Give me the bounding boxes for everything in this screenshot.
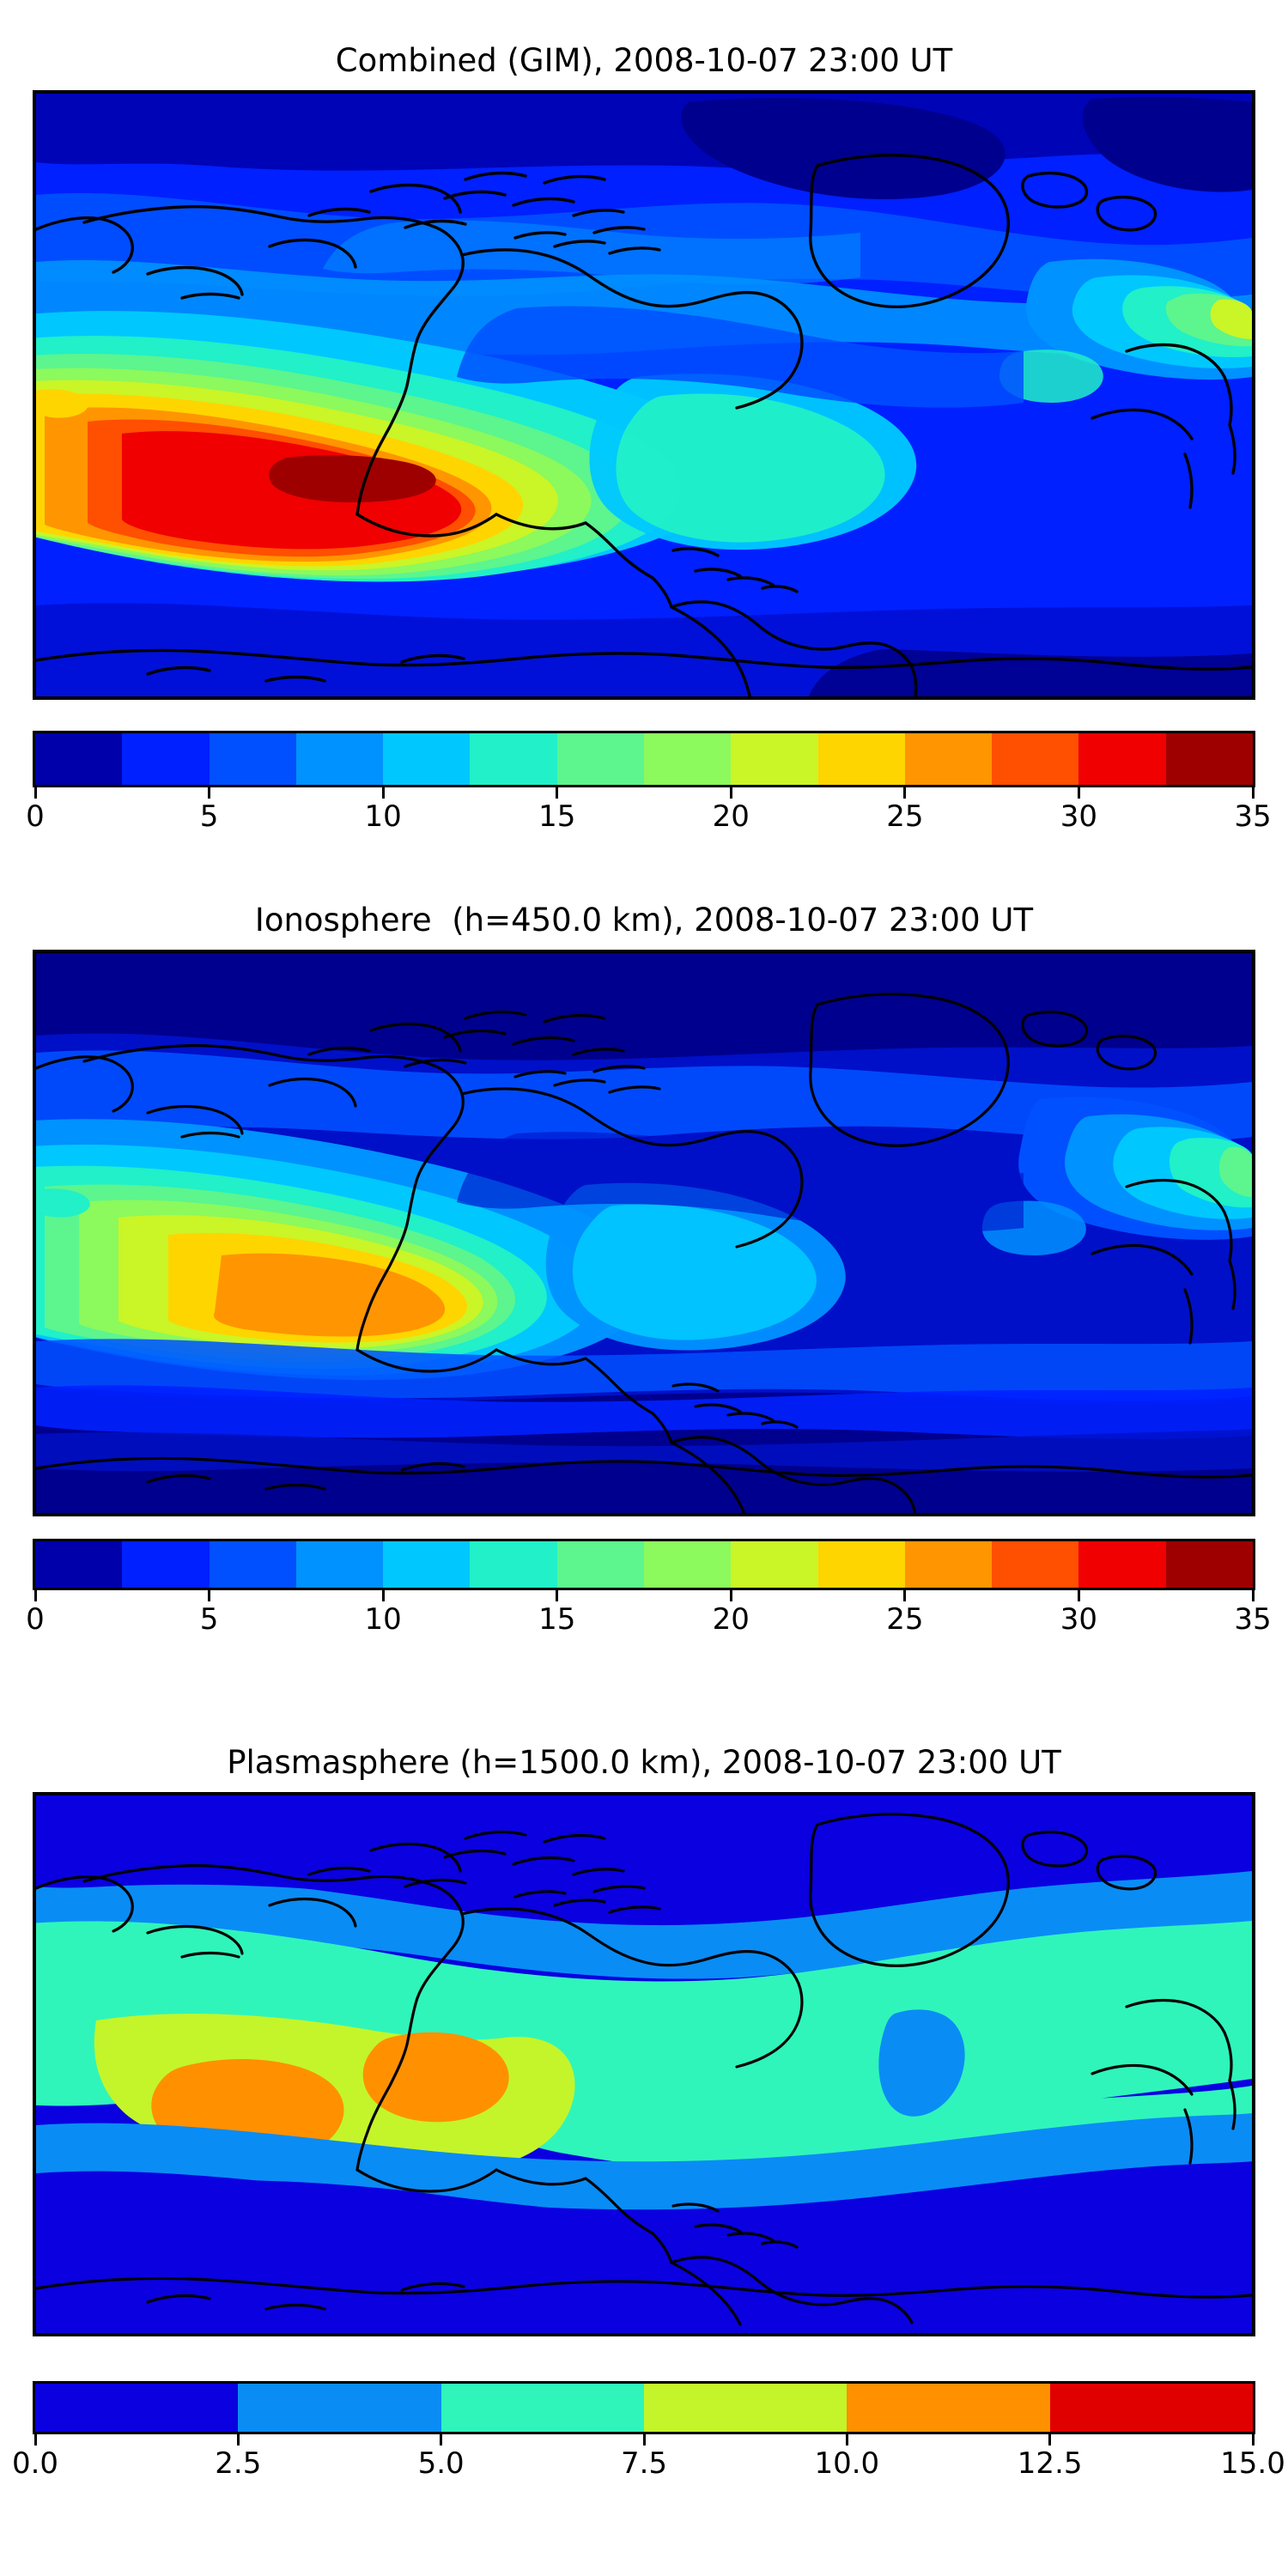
colorbar-tick xyxy=(556,787,558,799)
colorbar-axis-ionosphere: 05101520253035 xyxy=(33,1590,1255,1638)
colorbar-tick-label: 20 xyxy=(713,1602,750,1637)
colorbar-segment xyxy=(818,1541,905,1588)
colorbar-segment xyxy=(35,1541,122,1588)
colorbar-tick xyxy=(1048,2434,1051,2445)
colorbar-tick xyxy=(730,1590,732,1601)
map-canvas-plasmasphere xyxy=(36,1795,1252,2333)
colorbar-segment xyxy=(731,1541,817,1588)
colorbar-tick-label: 0 xyxy=(26,1602,45,1637)
panel-plasmasphere: Plasmasphere (h=1500.0 km), 2008-10-07 2… xyxy=(0,1747,1288,2434)
colorbar-tick-label: 35 xyxy=(1234,1602,1271,1637)
panel-title-combined-gim: Combined (GIM), 2008-10-07 23:00 UT xyxy=(0,45,1288,76)
colorbar-tick xyxy=(730,787,732,799)
colorbar-axis-plasmasphere: 0.02.55.07.510.012.515.0 xyxy=(33,2434,1255,2484)
colorbar-bands-plasmasphere xyxy=(33,2381,1255,2434)
colorbar-bands-ionosphere xyxy=(33,1539,1255,1590)
colorbar-segment xyxy=(35,733,122,785)
map-combined-gim xyxy=(33,90,1255,700)
colorbar-segment xyxy=(210,1541,296,1588)
colorbar-segment xyxy=(557,733,644,785)
colorbar-segment xyxy=(644,733,731,785)
colorbar-tick-label: 7.5 xyxy=(621,2446,667,2481)
colorbar-segment xyxy=(731,733,817,785)
colorbar-segment xyxy=(557,1541,644,1588)
colorbar-tick-label: 0.0 xyxy=(12,2446,58,2481)
colorbar-tick xyxy=(1252,1590,1255,1601)
map-ionosphere xyxy=(33,950,1255,1516)
colorbar-segment xyxy=(441,2384,644,2432)
colorbar-tick-label: 15 xyxy=(538,1602,575,1637)
colorbar-segment xyxy=(122,733,209,785)
colorbar-tick-label: 10.0 xyxy=(814,2446,879,2481)
colorbar-tick xyxy=(903,787,906,799)
map-plasmasphere xyxy=(33,1792,1255,2336)
colorbar-tick xyxy=(1078,787,1080,799)
panel-title-plasmasphere: Plasmasphere (h=1500.0 km), 2008-10-07 2… xyxy=(0,1747,1288,1778)
colorbar-plasmasphere: 0.02.55.07.510.012.515.0 xyxy=(33,2381,1255,2434)
colorbar-tick-label: 15.0 xyxy=(1220,2446,1285,2481)
colorbar-segment xyxy=(122,1541,209,1588)
panel-ionosphere: Ionosphere (h=450.0 km), 2008-10-07 23:0… xyxy=(0,904,1288,1590)
colorbar-tick-label: 5 xyxy=(200,799,219,834)
colorbar-segment xyxy=(1166,1541,1253,1588)
colorbar-tick xyxy=(382,1590,385,1601)
colorbar-segment xyxy=(905,733,992,785)
colorbar-segment xyxy=(35,2384,238,2432)
colorbar-tick-label: 35 xyxy=(1234,799,1271,834)
colorbar-segment xyxy=(644,1541,731,1588)
colorbar-segment xyxy=(818,733,905,785)
colorbar-tick-label: 30 xyxy=(1060,1602,1097,1637)
colorbar-segment xyxy=(296,1541,383,1588)
colorbar-tick xyxy=(1252,2434,1255,2445)
map-canvas-ionosphere xyxy=(36,953,1252,1513)
colorbar-ionosphere: 05101520253035 xyxy=(33,1539,1255,1590)
colorbar-tick xyxy=(846,2434,848,2445)
colorbar-tick xyxy=(34,787,37,799)
colorbar-segment xyxy=(1078,1541,1165,1588)
colorbar-segment xyxy=(383,1541,470,1588)
colorbar-tick xyxy=(440,2434,442,2445)
colorbar-tick xyxy=(903,1590,906,1601)
colorbar-segment xyxy=(992,1541,1078,1588)
colorbar-segment xyxy=(905,1541,992,1588)
colorbar-tick-label: 25 xyxy=(886,799,923,834)
map-frame-combined-gim xyxy=(33,90,1255,700)
colorbar-segment xyxy=(383,733,470,785)
colorbar-axis-combined-gim: 05101520253035 xyxy=(33,787,1255,839)
map-canvas-combined-gim xyxy=(36,94,1252,696)
colorbar-segment xyxy=(470,733,556,785)
colorbar-tick-label: 2.5 xyxy=(215,2446,261,2481)
colorbar-segment xyxy=(296,733,383,785)
colorbar-segment xyxy=(1166,733,1253,785)
colorbar-tick-label: 10 xyxy=(365,799,402,834)
colorbar-tick xyxy=(556,1590,558,1601)
map-frame-ionosphere xyxy=(33,950,1255,1516)
map-frame-plasmasphere xyxy=(33,1792,1255,2336)
colorbar-tick xyxy=(34,1590,37,1601)
panel-title-ionosphere: Ionosphere (h=450.0 km), 2008-10-07 23:0… xyxy=(0,904,1288,936)
colorbar-tick xyxy=(208,787,210,799)
colorbar-tick-label: 0 xyxy=(26,799,45,834)
panel-combined-gim: Combined (GIM), 2008-10-07 23:00 UT xyxy=(0,45,1288,787)
colorbar-segment xyxy=(992,733,1078,785)
colorbar-tick-label: 10 xyxy=(365,1602,402,1637)
colorbar-tick xyxy=(1252,787,1255,799)
colorbar-segment xyxy=(1078,733,1165,785)
colorbar-tick xyxy=(1078,1590,1080,1601)
colorbar-bands-combined-gim xyxy=(33,731,1255,787)
colorbar-segment xyxy=(238,2384,440,2432)
colorbar-tick xyxy=(382,787,385,799)
colorbar-combined-gim: 05101520253035 xyxy=(33,731,1255,787)
colorbar-tick-label: 20 xyxy=(713,799,750,834)
colorbar-tick-label: 5.0 xyxy=(418,2446,465,2481)
colorbar-tick-label: 5 xyxy=(200,1602,219,1637)
colorbar-tick-label: 30 xyxy=(1060,799,1097,834)
colorbar-segment xyxy=(470,1541,556,1588)
colorbar-tick-label: 12.5 xyxy=(1018,2446,1083,2481)
colorbar-segment xyxy=(644,2384,847,2432)
colorbar-tick-label: 15 xyxy=(538,799,575,834)
colorbar-segment xyxy=(847,2384,1049,2432)
colorbar-tick xyxy=(643,2434,646,2445)
colorbar-segment xyxy=(1050,2384,1253,2432)
tec-map-figure: Combined (GIM), 2008-10-07 23:00 UT xyxy=(0,0,1288,2576)
colorbar-tick xyxy=(237,2434,240,2445)
colorbar-tick xyxy=(34,2434,37,2445)
colorbar-tick xyxy=(208,1590,210,1601)
colorbar-segment xyxy=(210,733,296,785)
colorbar-tick-label: 25 xyxy=(886,1602,923,1637)
